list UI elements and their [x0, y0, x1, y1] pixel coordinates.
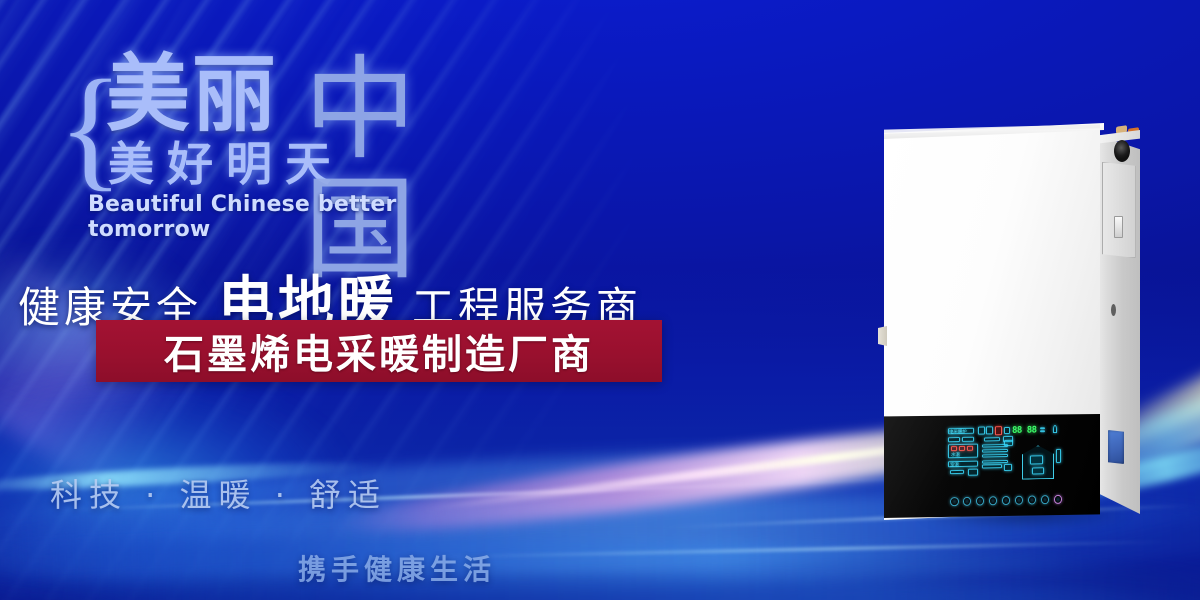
- lock-button-icon[interactable]: [1054, 495, 1063, 504]
- lcd-label-room-temp: 室温: [950, 462, 959, 468]
- power-button-icon[interactable]: [950, 497, 959, 506]
- brand-logo: { 美丽 美好明天 中国 Beautiful Chinese better to…: [58, 52, 498, 224]
- logo-line-1: 美丽: [106, 46, 278, 142]
- lcd-label-device: 电采暖炉: [949, 428, 967, 434]
- down-button-icon[interactable]: [989, 496, 998, 505]
- touch-button-row[interactable]: [950, 495, 1062, 510]
- product-left-mount-lug: [878, 326, 887, 346]
- menu-button-icon[interactable]: [1041, 495, 1050, 504]
- promotional-banner: { 美丽 美好明天 中国 Beautiful Chinese better to…: [0, 0, 1200, 600]
- side-vent-knob-icon: [1114, 140, 1130, 162]
- set-button-icon[interactable]: [1015, 496, 1024, 505]
- up-button-icon[interactable]: [976, 496, 985, 505]
- lcd-label-water-temp: 水温: [951, 452, 960, 458]
- red-banner-text: 石墨烯电采暖制造厂商: [164, 322, 594, 380]
- logo-english-tagline: Beautiful Chinese better tomorrow: [88, 192, 498, 242]
- logo-emblem-china: 中国: [304, 50, 498, 290]
- mode-button-icon[interactable]: [963, 497, 972, 506]
- lcd-display: 电采暖炉 88 88 水温 室温: [948, 425, 1066, 493]
- tagline-secondary: 携手健康生活: [298, 548, 496, 588]
- product-electric-boiler: 电采暖炉 88 88 水温 室温: [866, 118, 1176, 518]
- tagline-primary: 科技 · 温暖 · 舒适: [50, 470, 387, 516]
- lcd-digits: 88 88: [1012, 425, 1037, 436]
- red-banner: 石墨烯电采暖制造厂商: [96, 320, 662, 382]
- side-switch: [1114, 216, 1123, 238]
- timer-button-icon[interactable]: [1002, 496, 1011, 505]
- side-air-vent: [1108, 430, 1124, 464]
- clock-button-icon[interactable]: [1028, 495, 1037, 504]
- side-recessed-panel: [1102, 162, 1136, 258]
- side-screw-hole: [1111, 304, 1116, 316]
